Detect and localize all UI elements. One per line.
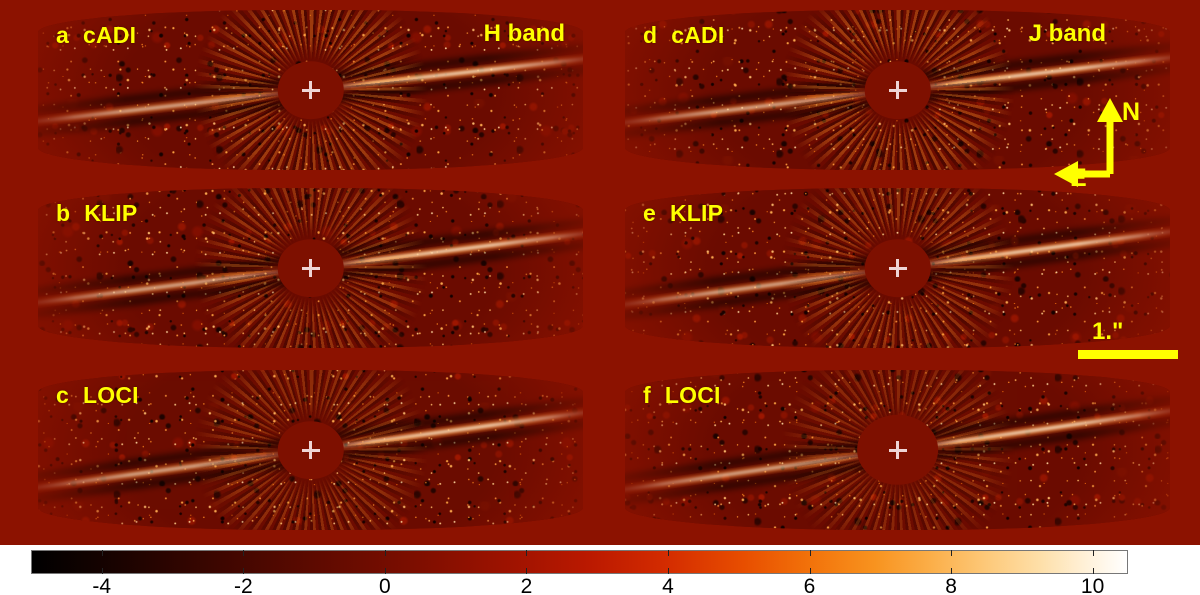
- panel-a-letter: a: [56, 22, 69, 48]
- compass-arrows-icon: [1048, 86, 1168, 196]
- colorbar-tick: [810, 550, 811, 556]
- scale-bar-label: 1.": [1092, 320, 1123, 344]
- colorbar-container: -4-20246810: [0, 545, 1200, 595]
- colorbar-tick: [810, 568, 811, 574]
- colorbar-tick: [526, 550, 527, 556]
- panel-d-letter: d: [643, 22, 657, 48]
- panel-c-label: cLOCI: [56, 384, 139, 407]
- compass-rose: N E: [1048, 86, 1168, 196]
- panel-mosaic: acADI H band bKLIP: [0, 0, 1200, 545]
- panel-f-letter: f: [643, 382, 651, 408]
- panel-e-algorithm: KLIP: [670, 200, 723, 226]
- colorbar-tick: [668, 568, 669, 574]
- colorbar-tick: [243, 550, 244, 556]
- panel-a-algorithm: cADI: [83, 22, 136, 48]
- colorbar-tick: [951, 550, 952, 556]
- compass-north-label: N: [1122, 100, 1140, 125]
- panel-c-algorithm: LOCI: [83, 382, 139, 408]
- panel-f-label: fLOCI: [643, 384, 721, 407]
- colorbar-tick-label: 2: [521, 576, 533, 595]
- colorbar-gradient: [31, 550, 1128, 574]
- colorbar-tick: [1093, 550, 1094, 556]
- panel-d-band-label: J band: [1029, 22, 1106, 46]
- figure-root: acADI H band bKLIP: [0, 0, 1200, 595]
- north-arrow-head: [1097, 98, 1123, 122]
- colorbar-tick: [668, 550, 669, 556]
- colorbar-tick-label: -4: [92, 576, 111, 595]
- panel-d-label: dcADI: [643, 24, 724, 47]
- panel-a: acADI H band: [38, 10, 583, 170]
- panel-a-label: acADI: [56, 24, 136, 47]
- colorbar-tick-label: 6: [804, 576, 816, 595]
- panel-e-label: eKLIP: [643, 202, 723, 225]
- panel-a-band-label: H band: [484, 22, 565, 46]
- panel-f-algorithm: LOCI: [665, 382, 721, 408]
- panel-b-letter: b: [56, 200, 70, 226]
- colorbar-tick-label: 8: [945, 576, 957, 595]
- compass-east-label: E: [1070, 166, 1087, 191]
- colorbar-tick: [243, 568, 244, 574]
- colorbar-tick: [385, 550, 386, 556]
- panel-d-algorithm: cADI: [671, 22, 724, 48]
- colorbar-tick: [102, 568, 103, 574]
- colorbar-tick-label: -2: [234, 576, 253, 595]
- colorbar-tick: [951, 568, 952, 574]
- colorbar-tick: [102, 550, 103, 556]
- panel-f: fLOCI: [625, 370, 1170, 530]
- panel-c: cLOCI: [38, 370, 583, 530]
- panel-b: bKLIP: [38, 188, 583, 348]
- scale-bar-line: [1078, 350, 1178, 359]
- panel-b-algorithm: KLIP: [84, 200, 137, 226]
- panel-e-letter: e: [643, 200, 656, 226]
- colorbar-tick-label: 0: [379, 576, 391, 595]
- colorbar-tick: [526, 568, 527, 574]
- scale-bar: 1.": [1078, 320, 1188, 365]
- colorbar-tick: [1093, 568, 1094, 574]
- panel-b-label: bKLIP: [56, 202, 137, 225]
- panel-c-letter: c: [56, 382, 69, 408]
- colorbar-tick-label: 4: [662, 576, 674, 595]
- colorbar-tick: [385, 568, 386, 574]
- colorbar-tick-label: 10: [1081, 576, 1104, 595]
